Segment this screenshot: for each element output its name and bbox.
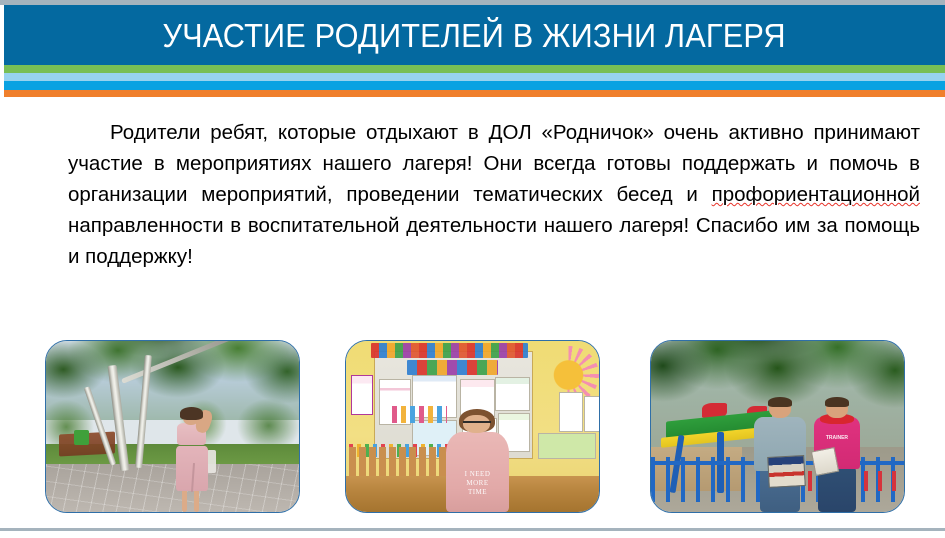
bottom-divider-rule [0, 528, 945, 531]
board-poster [495, 377, 530, 411]
tshirt-print: TRAINER [820, 435, 855, 441]
paragraph-segment-2: направленности в воспитательной деятельн… [68, 214, 920, 268]
board-headline-line-2 [407, 360, 498, 375]
pale-blue-stripe [4, 73, 945, 81]
green-stripe [4, 65, 945, 73]
wall-poster-left [351, 375, 373, 415]
wall-poster-right [584, 396, 600, 432]
board-headline-line-1 [371, 343, 528, 358]
held-display-board [767, 455, 805, 488]
hair [825, 397, 848, 407]
wall-poster-right [559, 392, 584, 432]
spellcheck-flagged-word: профориентационной [712, 183, 920, 206]
accent-stripe-group [4, 65, 945, 95]
tshirt-slogan-line-1: I NEEDMORETIME [455, 470, 500, 497]
photo-woman-classroom-image: I NEEDMORETIME [346, 341, 599, 512]
man-figure-right: TRAINER [810, 399, 863, 512]
header-banner: УЧАСТИЕ РОДИТЕЛЕЙ В ЖИЗНИ ЛАГЕРЯ [4, 5, 945, 65]
woman-figure [165, 409, 221, 512]
body-paragraph: Родители ребят, которые отдыхают в ДОЛ «… [68, 117, 920, 272]
green-sign [74, 430, 89, 445]
open-book [810, 447, 839, 476]
photo-woman-park[interactable] [45, 340, 300, 513]
leg [182, 489, 187, 512]
photo-two-men-playground-image: TRAINER [651, 341, 904, 512]
page-title: УЧАСТИЕ РОДИТЕЛЕЙ В ЖИЗНИ ЛАГЕРЯ [163, 19, 786, 52]
handbag [207, 450, 216, 473]
man-figure-left [752, 399, 808, 512]
photo-gallery-row: I NEEDMORETIME [0, 340, 945, 515]
photo-two-men-playground[interactable]: TRAINER [650, 340, 905, 513]
paper-children-cutouts [392, 406, 448, 423]
wall-poster-right [538, 433, 596, 459]
hair [768, 397, 792, 407]
pink-tshirt: I NEEDMORETIME [446, 432, 508, 512]
slide-canvas: УЧАСТИЕ РОДИТЕЛЕЙ В ЖИЗНИ ЛАГЕРЯ Родител… [0, 0, 945, 538]
eyeglasses [463, 421, 491, 427]
photo-woman-park-image [46, 341, 299, 512]
leg [194, 489, 199, 512]
orange-stripe [4, 90, 945, 97]
hair [180, 407, 203, 419]
photo-woman-classroom[interactable]: I NEEDMORETIME [345, 340, 600, 513]
woman-figure: I NEEDMORETIME [442, 409, 513, 512]
bright-blue-stripe [4, 81, 945, 90]
